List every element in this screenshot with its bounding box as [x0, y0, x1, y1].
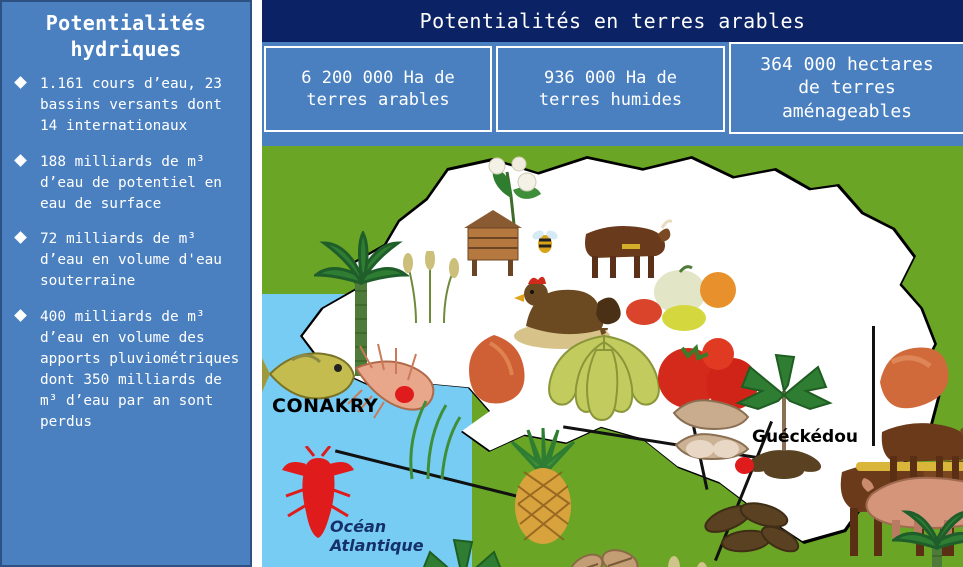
ocean-label: Océan Atlantique: [330, 518, 424, 556]
diamond-bullet-icon: [14, 231, 27, 244]
cocoa-pod-icon: [702, 491, 802, 561]
list-item: 188 milliards de m³ d’eau de potentiel e…: [14, 152, 240, 216]
bullet-text: 188 milliards de m³ d’eau de potentiel e…: [40, 154, 222, 212]
pineapple-icon: [498, 428, 588, 548]
stats-band: 6 200 000 Ha de terres arables 936 000 H…: [262, 42, 963, 146]
stat-line-2: de terres: [754, 76, 939, 99]
stat-line-1: 6 200 000 Ha de: [295, 67, 461, 89]
stat-line-1: 936 000 Ha de: [533, 67, 688, 89]
list-item: 1.161 cours d’eau, 23 bassins versants d…: [14, 74, 240, 138]
bullet-text: 1.161 cours d’eau, 23 bassins versants d…: [40, 76, 222, 134]
cassava-plant-icon: [412, 538, 512, 567]
city-dot-red: [735, 457, 754, 474]
stat-box-terres-amenageables: 364 000 hectares de terres aménageables: [729, 42, 963, 134]
rice-icon: [392, 391, 462, 481]
left-panel-title-line1: Potentialités: [20, 10, 232, 36]
rice-icon: [642, 556, 722, 567]
ocean-label-line1: Océan: [330, 518, 424, 537]
millet-icon: [402, 251, 462, 326]
bee-icon: [530, 226, 560, 256]
bullet-text: 400 milliards de m³ d’eau en volume des …: [40, 309, 239, 431]
page-title: Potentialités en terres arables: [262, 0, 963, 42]
mango-icon: [460, 331, 530, 406]
citrus-fruit-icon: [622, 264, 737, 334]
slide-root: Potentialités hydriques 1.161 cours d’ea…: [0, 0, 963, 567]
left-panel-title: Potentialités hydriques: [2, 2, 250, 64]
list-item: 400 milliards de m³ d’eau en volume des …: [14, 307, 240, 434]
bullet-text: 72 milliards de m³ d’eau en volume d'eau…: [40, 231, 222, 289]
diamond-bullet-icon: [14, 154, 27, 167]
stat-line-3: aménageables: [754, 100, 939, 123]
list-item: 72 milliards de m³ d’eau en volume d'eau…: [14, 229, 240, 293]
stat-line-1: 364 000 hectares: [754, 53, 939, 76]
left-panel-potentialites-hydriques: Potentialités hydriques 1.161 cours d’ea…: [0, 0, 252, 567]
ocean-label-line2: Atlantique: [330, 537, 424, 556]
city-label-conakry: CONAKRY: [272, 395, 378, 417]
left-panel-title-line2: hydriques: [20, 36, 232, 62]
stat-box-terres-humides: 936 000 Ha de terres humides: [496, 46, 725, 132]
left-panel-bullet-list: 1.161 cours d’eau, 23 bassins versants d…: [2, 74, 250, 434]
guinea-agriculture-map: CONAKRY Guéckédou Océan Atlantique: [262, 146, 963, 567]
right-content-area: Potentialités en terres arables 6 200 00…: [262, 0, 963, 567]
stat-box-terres-arables: 6 200 000 Ha de terres arables: [264, 46, 492, 132]
stat-line-2: terres arables: [295, 89, 461, 111]
diamond-bullet-icon: [14, 76, 27, 89]
stat-line-2: terres humides: [533, 89, 688, 111]
city-dot-red: [395, 386, 414, 403]
diamond-bullet-icon: [14, 309, 27, 322]
city-label-gueckedou: Guéckédou: [752, 427, 858, 447]
oil-palm-icon: [892, 506, 963, 567]
